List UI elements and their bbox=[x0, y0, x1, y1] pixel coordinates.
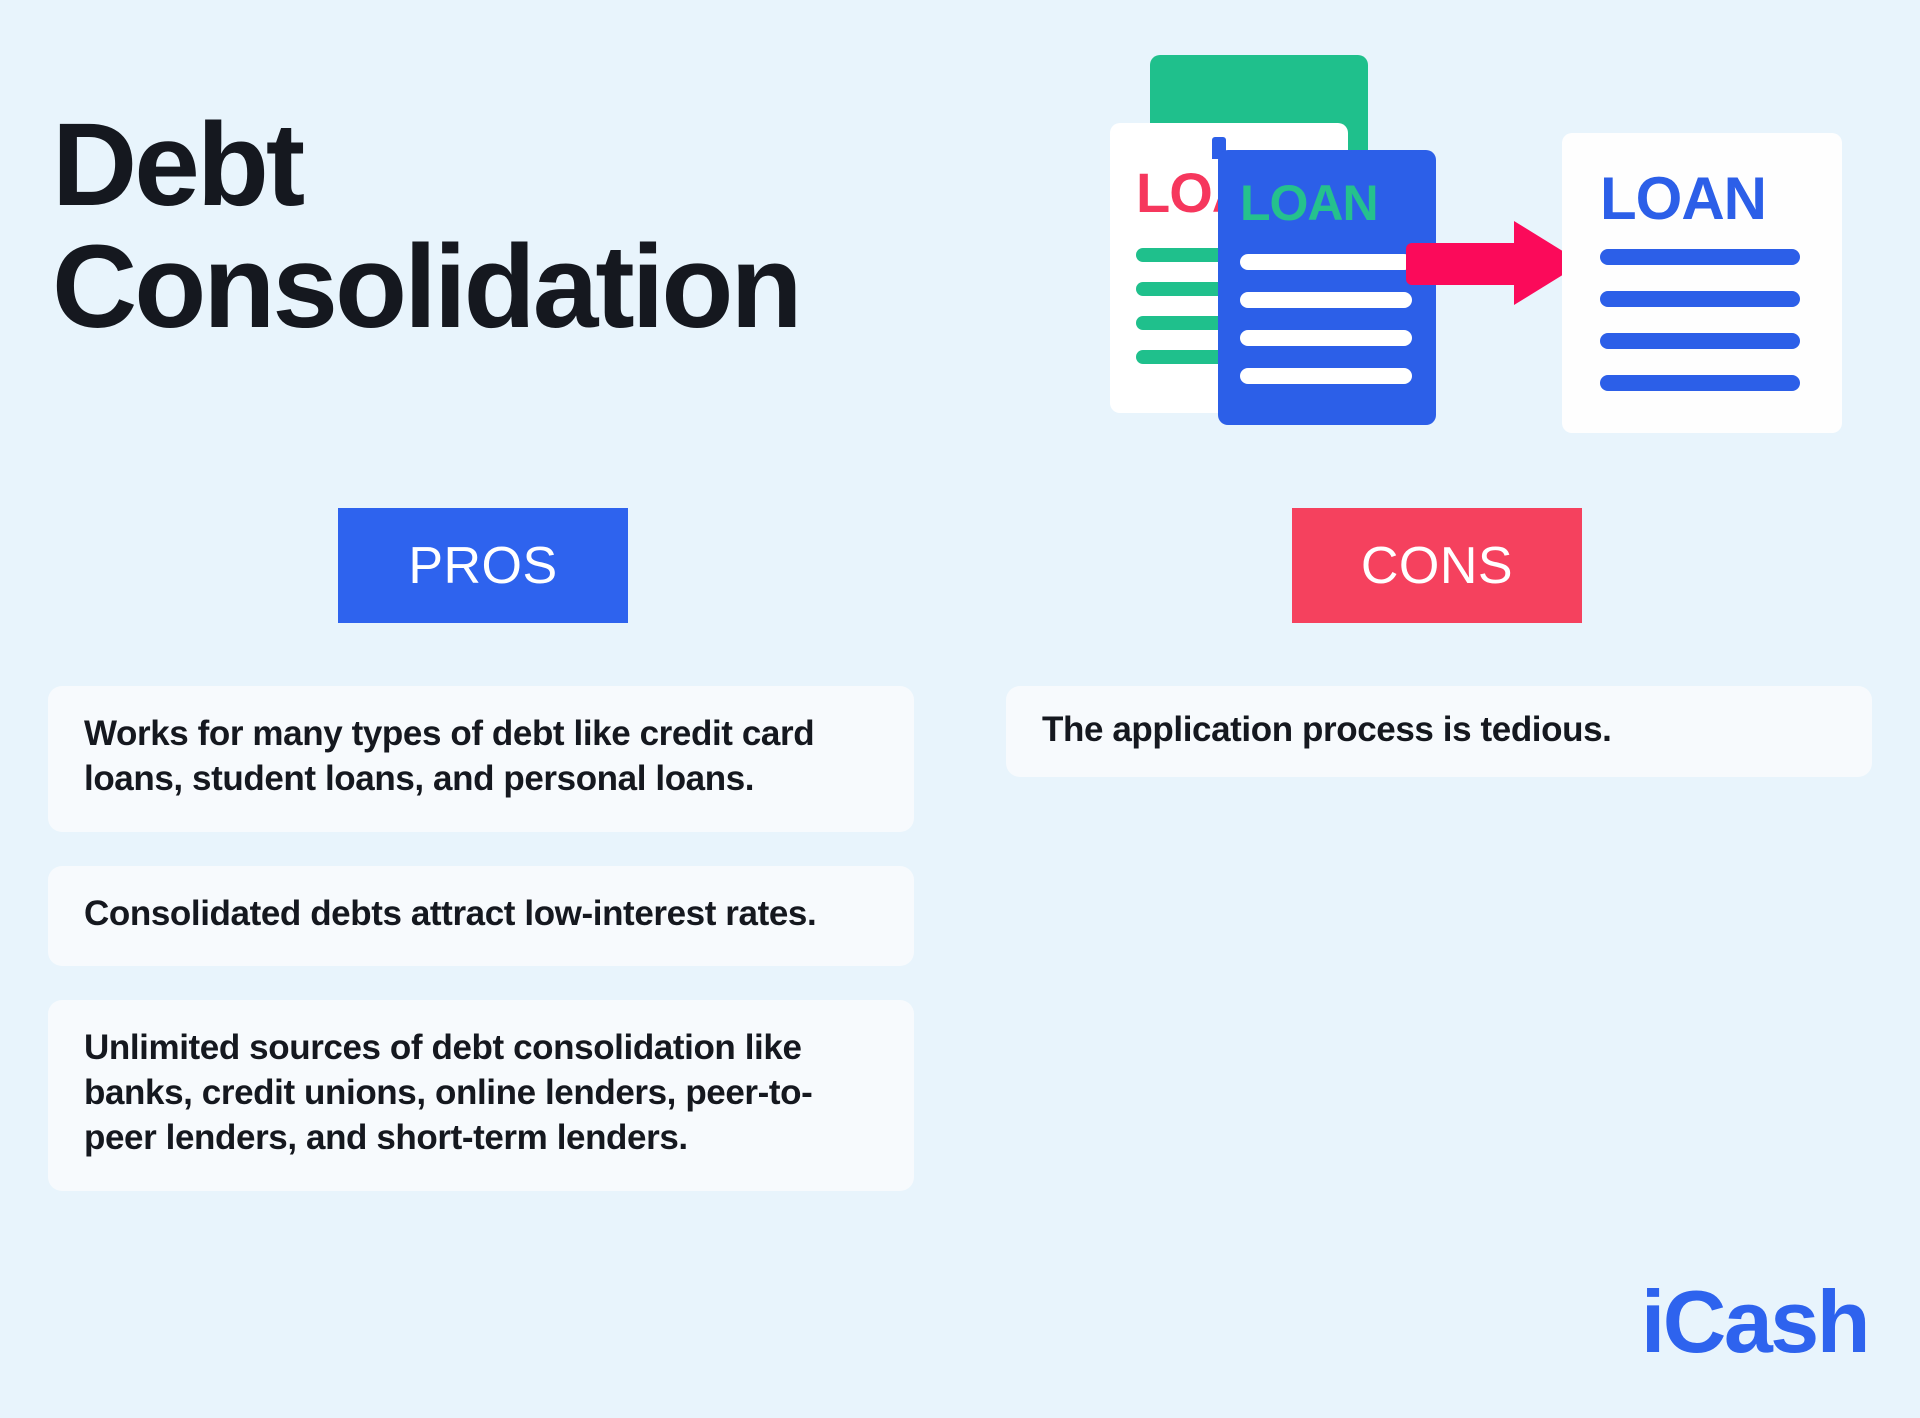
document-white-front-heading: LOAN bbox=[1600, 169, 1766, 229]
document-line bbox=[1240, 254, 1412, 270]
document-line bbox=[1600, 249, 1800, 265]
cons-item-text: The application process is tedious. bbox=[1042, 708, 1836, 753]
pros-item-text: Unlimited sources of debt consolidation … bbox=[84, 1026, 878, 1160]
loan-consolidation-illustration: LOAN LOAN LOAN bbox=[1110, 45, 1870, 415]
list-item: The application process is tedious. bbox=[1006, 686, 1872, 777]
document-line bbox=[1600, 375, 1800, 391]
pros-item-text: Works for many types of debt like credit… bbox=[84, 712, 878, 802]
document-blue: LOAN bbox=[1218, 150, 1436, 425]
document-line bbox=[1240, 368, 1412, 384]
document-line bbox=[1240, 292, 1412, 308]
pros-badge-label: PROS bbox=[408, 536, 557, 596]
document-white-front-lines bbox=[1600, 249, 1800, 417]
pros-list: Works for many types of debt like credit… bbox=[48, 686, 914, 1225]
arrow-shaft bbox=[1406, 243, 1526, 285]
page-title-line-2: Consolidation bbox=[52, 227, 1112, 349]
document-line bbox=[1600, 333, 1800, 349]
cons-badge: CONS bbox=[1292, 508, 1582, 623]
pros-item-text: Consolidated debts attract low-interest … bbox=[84, 892, 878, 937]
cons-list: The application process is tedious. bbox=[1006, 686, 1872, 811]
document-line bbox=[1600, 291, 1800, 307]
page-title: Debt Consolidation bbox=[52, 105, 1112, 348]
document-white-front: LOAN bbox=[1562, 133, 1842, 433]
list-item: Consolidated debts attract low-interest … bbox=[48, 866, 914, 967]
page-title-line-1: Debt bbox=[52, 105, 1112, 227]
pros-badge: PROS bbox=[338, 508, 628, 623]
document-line bbox=[1240, 330, 1412, 346]
icash-logo: iCash bbox=[1641, 1278, 1868, 1366]
document-blue-heading: LOAN bbox=[1240, 178, 1378, 228]
consolidation-arrow-icon bbox=[1406, 221, 1582, 305]
document-blue-lines bbox=[1240, 254, 1412, 406]
list-item: Works for many types of debt like credit… bbox=[48, 686, 914, 832]
list-item: Unlimited sources of debt consolidation … bbox=[48, 1000, 914, 1190]
cons-badge-label: CONS bbox=[1361, 536, 1513, 596]
